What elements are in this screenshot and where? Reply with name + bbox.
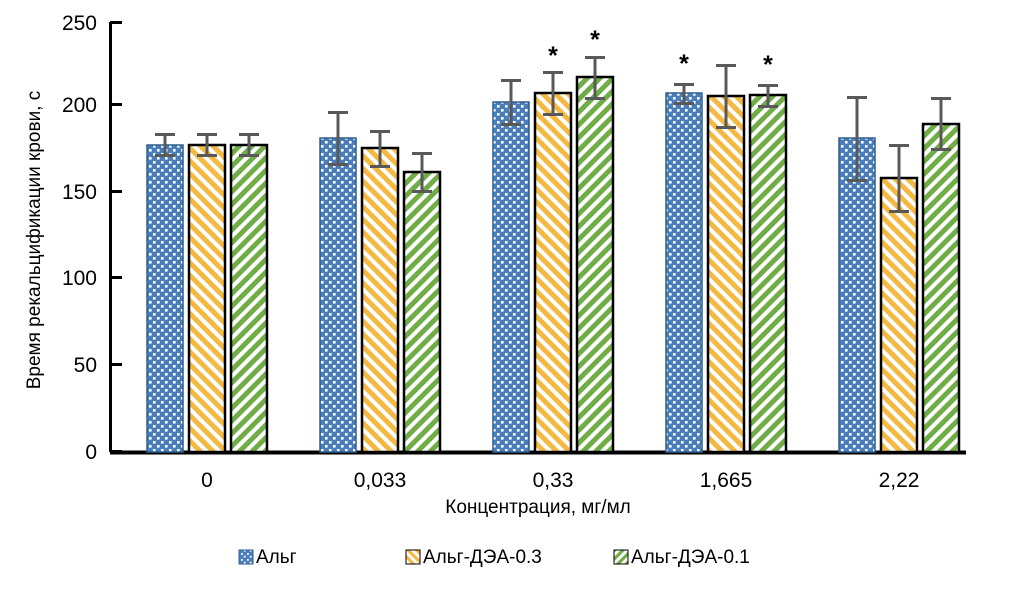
legend-item-2[interactable]: Альг-ДЭА-0.1 (614, 547, 750, 568)
bar-series-1 (362, 148, 398, 452)
x-tick-label: 2,22 (879, 469, 920, 492)
y-tick-label: 200 (62, 94, 97, 117)
y-tick-label: 0 (85, 441, 97, 464)
bar-series-1 (535, 93, 571, 452)
x-tick-label: 0 (201, 469, 213, 492)
bar-series-0 (839, 138, 875, 452)
bar-group-0: 0 (147, 134, 267, 492)
bar-series-2 (923, 124, 959, 452)
significance-marker: * (548, 42, 558, 70)
bar-group-1: 0,033 (320, 112, 440, 492)
y-axis (110, 22, 122, 452)
bar-series-0 (493, 102, 529, 452)
bar-series-2 (404, 172, 440, 452)
bar-group-2: * * 0,33 (493, 26, 613, 492)
bar-series-2 (231, 145, 267, 452)
legend: Альг Альг-ДЭА-0.3 Альг-ДЭА-0.1 (239, 547, 750, 568)
x-axis-title: Концентрация, мг/мл (445, 497, 630, 518)
x-tick-label: 1,665 (700, 469, 753, 492)
legend-item-label: Альг (256, 547, 297, 568)
bar-series-2 (577, 77, 613, 452)
y-axis-tick-labels: 250 200 150 100 50 0 (62, 12, 97, 464)
bar-series-1 (881, 178, 917, 452)
legend-swatch-icon (406, 550, 420, 564)
bar-series-0 (320, 138, 356, 452)
y-axis-title: Время рекальцификации крови, с (24, 91, 45, 390)
bar-chart: 250 200 150 100 50 0 (0, 0, 1010, 595)
y-tick-label: 50 (74, 354, 97, 377)
y-tick-label: 250 (62, 12, 97, 35)
legend-item-0[interactable]: Альг (239, 547, 297, 568)
legend-swatch-icon (239, 550, 253, 564)
significance-marker: * (679, 50, 689, 78)
bar-series-1 (189, 145, 225, 452)
significance-marker: * (763, 51, 773, 79)
bar-series-0 (666, 93, 702, 452)
legend-item-label: Альг-ДЭА-0.1 (631, 547, 750, 568)
significance-marker: * (590, 26, 600, 54)
bar-series-2 (750, 95, 786, 452)
chart-canvas: 250 200 150 100 50 0 (0, 0, 1010, 595)
bar-group-4: 2,22 (839, 97, 959, 492)
legend-swatch-icon (614, 550, 628, 564)
legend-item-1[interactable]: Альг-ДЭА-0.3 (406, 547, 542, 568)
bar-series-0 (147, 145, 183, 452)
y-tick-label: 150 (62, 181, 97, 204)
bar-group-3: * * 1,665 (666, 50, 786, 492)
x-tick-label: 0,033 (354, 469, 407, 492)
bar-series-1 (708, 96, 744, 452)
x-tick-label: 0,33 (533, 469, 574, 492)
legend-item-label: Альг-ДЭА-0.3 (423, 547, 542, 568)
y-tick-label: 100 (62, 267, 97, 290)
